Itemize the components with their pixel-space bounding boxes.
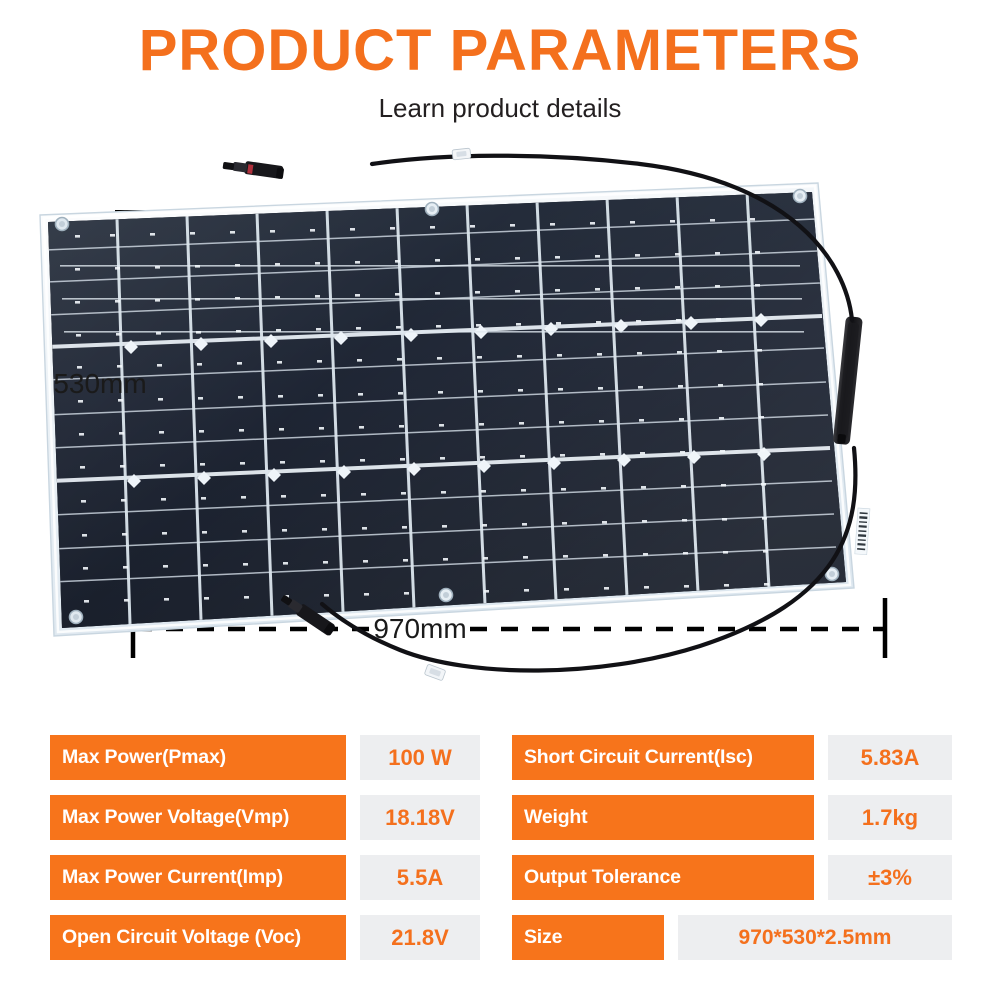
product-label: [855, 508, 870, 555]
cable-clip-top: [452, 148, 471, 160]
junction-box: [833, 316, 863, 445]
spec-row: Max Power(Pmax) 100 W: [50, 735, 480, 780]
spec-row: Max Power Current(Imp) 5.5A: [50, 855, 480, 900]
solar-panel: [40, 180, 870, 640]
spec-value: 5.83A: [828, 735, 952, 780]
spec-label: Max Power Current(Imp): [50, 855, 346, 900]
spec-row: Output Tolerance ±3%: [512, 855, 952, 900]
spec-label: Max Power Voltage(Vmp): [50, 795, 346, 840]
page-subtitle: Learn product details: [0, 93, 1000, 124]
page-title: PRODUCT PARAMETERS: [0, 22, 1000, 80]
spec-value: 21.8V: [360, 915, 480, 960]
spec-table: Max Power(Pmax) 100 W Max Power Voltage(…: [0, 735, 1000, 975]
spec-row: Open Circuit Voltage (Voc) 21.8V: [50, 915, 480, 960]
cell-grid: [40, 180, 860, 640]
grommet-top-center: [426, 203, 439, 216]
spec-row: Size 970*530*2.5mm: [512, 915, 952, 960]
spec-value: 1.7kg: [828, 795, 952, 840]
spec-row: Max Power Voltage(Vmp) 18.18V: [50, 795, 480, 840]
mc4-connector-top: [222, 158, 284, 179]
dimension-height-label: 530mm: [53, 368, 146, 399]
spec-value: 970*530*2.5mm: [678, 915, 952, 960]
spec-row: Short Circuit Current(Isc) 5.83A: [512, 735, 952, 780]
spec-label: Max Power(Pmax): [50, 735, 346, 780]
grommet-bottom-left: [70, 611, 83, 624]
spec-column-left: Max Power(Pmax) 100 W Max Power Voltage(…: [50, 735, 480, 960]
spec-label: Short Circuit Current(Isc): [512, 735, 814, 780]
grommet-bottom-center: [440, 589, 453, 602]
product-image: 530mm 970mm: [0, 130, 1000, 710]
cable-clip-bottom: [424, 664, 446, 681]
spec-label: Size: [512, 915, 664, 960]
product-parameters-page: PRODUCT PARAMETERS Learn product details: [0, 0, 1000, 1000]
spec-row: Weight 1.7kg: [512, 795, 952, 840]
grommet-top-right: [794, 190, 807, 203]
grommet-top-left: [56, 218, 69, 231]
spec-label: Open Circuit Voltage (Voc): [50, 915, 346, 960]
spec-column-right: Short Circuit Current(Isc) 5.83A Weight …: [512, 735, 952, 960]
spec-label: Weight: [512, 795, 814, 840]
spec-value: 5.5A: [360, 855, 480, 900]
spec-value: 100 W: [360, 735, 480, 780]
dimension-width-label: 970mm: [373, 613, 466, 644]
spec-value: ±3%: [828, 855, 952, 900]
spec-label: Output Tolerance: [512, 855, 814, 900]
spec-value: 18.18V: [360, 795, 480, 840]
